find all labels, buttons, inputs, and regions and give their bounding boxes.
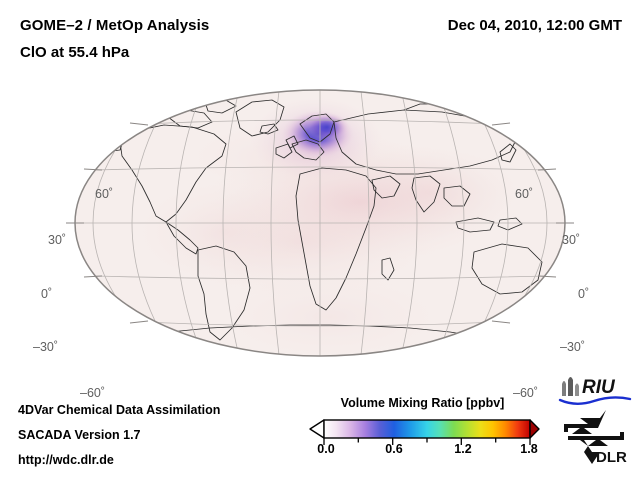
lat-label-left-m30: –30˚ [33, 340, 58, 354]
timestamp-label: Dec 04, 2010, 12:00 GMT [448, 17, 622, 34]
riu-logo: RIU [556, 374, 634, 408]
colorbar-extend-min [310, 420, 324, 438]
dlr-wordmark: DLR [596, 449, 627, 466]
colorbar-tick-label-2: 1.2 [454, 442, 471, 456]
lat-label-left-0: 0˚ [41, 287, 52, 301]
dlr-logo: DLR [562, 408, 634, 466]
colorbar-body [324, 420, 530, 438]
page-title: GOME–2 / MetOp Analysis [20, 17, 209, 34]
lat-label-right-m30: –30˚ [560, 340, 585, 354]
colorbar-gradient [305, 418, 540, 458]
lat-label-right-0: 0˚ [578, 287, 589, 301]
colorbar-tick-label-1: 0.6 [385, 442, 402, 456]
map-panel: 60˚ 30˚ 0˚ –30˚ –60˚ 60˚ 30˚ 0˚ –30˚ –60… [0, 82, 640, 382]
colorbar: Volume Mixing Ratio [ppbv] [305, 396, 540, 472]
lat-label-right-30: 30˚ [562, 233, 580, 247]
footer-version-label: SACADA Version 1.7 [18, 428, 141, 442]
riu-wordmark: RIU [582, 377, 616, 398]
lat-label-left-60: 60˚ [95, 187, 113, 201]
lat-label-left-m60: –60˚ [80, 386, 105, 400]
lat-label-right-60: 60˚ [515, 187, 533, 201]
colorbar-title: Volume Mixing Ratio [ppbv] [305, 396, 540, 410]
footer-method-label: 4DVar Chemical Data Assimilation [18, 403, 220, 417]
colorbar-extend-max [530, 420, 539, 438]
colorbar-tick-label-0: 0.0 [317, 442, 334, 456]
colorbar-tick-label-3: 1.8 [520, 442, 537, 456]
riu-skyline-icon [562, 377, 579, 396]
lat-label-left-30: 30˚ [48, 233, 66, 247]
colorbar-ticks [324, 438, 530, 445]
world-map-mollweide [0, 82, 640, 382]
page-subtitle: ClO at 55.4 hPa [20, 44, 129, 61]
riu-swoosh-icon [560, 397, 630, 403]
footer-url-link[interactable]: http://wdc.dlr.de [18, 453, 114, 467]
